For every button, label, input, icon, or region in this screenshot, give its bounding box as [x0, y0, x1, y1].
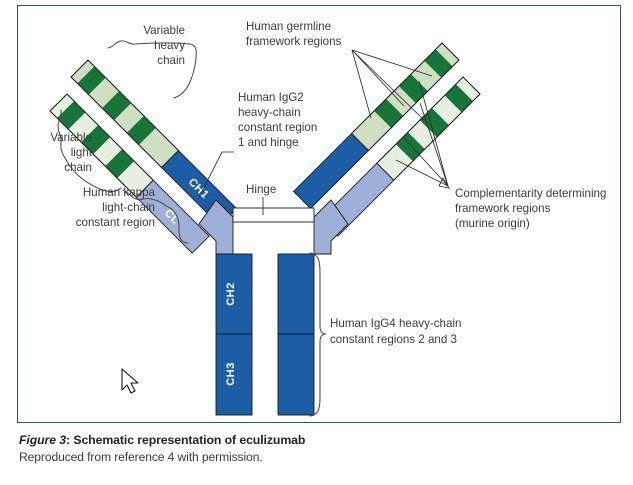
- igg2-line2: heavy-chain: [238, 106, 301, 119]
- ch2-label: CH2: [225, 282, 237, 306]
- right-ch2-domain: [278, 254, 314, 334]
- hinge-gap: [233, 208, 314, 222]
- caption-title-text: : Schematic representation of eculizumab: [66, 433, 305, 447]
- caption-figure-number: Figure 3: [19, 433, 66, 447]
- kappa-line3: constant region: [76, 216, 155, 229]
- eculizumab-schematic: CH1 CL: [0, 0, 633, 425]
- caption-credit: Reproduced from reference 4 with permiss…: [19, 450, 619, 466]
- igg2-line1: Human IgG2: [238, 91, 304, 104]
- figure-container: CH1 CL: [0, 0, 633, 485]
- variable-light-line2: light: [71, 146, 93, 159]
- variable-heavy-line3: chain: [157, 54, 185, 67]
- hinge-label: Hinge: [246, 183, 276, 196]
- igg2-line4: 1 and hinge: [238, 136, 299, 149]
- caption-title-row: Figure 3: Schematic representation of ec…: [19, 432, 619, 448]
- kappa-line1: Human kappa: [83, 186, 156, 199]
- germline-label-line1: Human germline: [246, 20, 331, 33]
- variable-heavy-line2: heavy: [154, 39, 185, 52]
- variable-heavy-line1: Variable: [143, 24, 185, 37]
- figure-caption: Figure 3: Schematic representation of ec…: [19, 432, 619, 466]
- cdr-line1: Complementarity determining: [455, 187, 606, 200]
- germline-label-line2: framework regions: [246, 35, 342, 48]
- igg4-line2: constant regions 2 and 3: [330, 333, 457, 346]
- ch3-label: CH3: [225, 362, 237, 386]
- igg4-line1: Human IgG4 heavy-chain: [330, 317, 461, 330]
- cdr-line2: framework regions: [455, 202, 551, 215]
- kappa-line2: light-chain: [102, 201, 155, 214]
- cdr-line3: (murine origin): [455, 217, 530, 230]
- igg2-line3: constant region: [238, 121, 317, 134]
- variable-light-line1: Variable: [50, 131, 92, 144]
- right-ch3-domain: [278, 334, 314, 415]
